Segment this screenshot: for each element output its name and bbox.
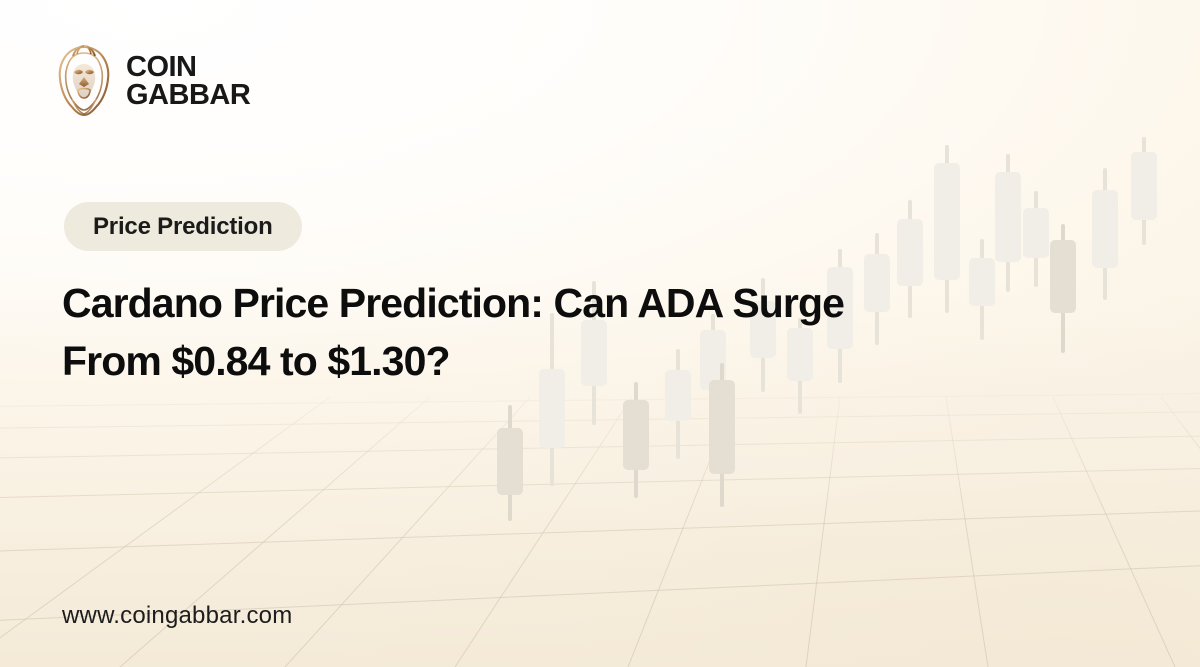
logo-word-gabbar: GABBAR [126,81,250,109]
candlestick-body [1023,208,1049,258]
banner-canvas: COIN GABBAR Price Prediction Cardano Pri… [0,0,1200,667]
lion-head-icon [56,44,112,118]
floor-grid-horizon-lines [0,393,1200,623]
candlestick [1092,168,1118,300]
candlestick [1023,191,1049,287]
candlestick-body [934,163,960,280]
candlestick-wick [634,382,638,498]
page-title-line-1: Cardano Price Prediction: Can ADA Surge [62,274,1072,332]
candlestick-body [623,400,649,470]
candlestick-wick [1006,154,1010,292]
page-title-line-2: From $0.84 to $1.30? [62,332,1072,390]
lion-head-icon-svg [56,44,112,118]
candlestick [995,154,1021,292]
candlestick [497,405,523,521]
candlestick-wick [508,405,512,521]
site-url[interactable]: www.coingabbar.com [62,602,292,630]
candlestick-body [995,172,1021,262]
category-badge[interactable]: Price Prediction [64,202,302,251]
candlestick-wick [1142,137,1146,245]
candlestick [623,382,649,498]
site-logo[interactable]: COIN GABBAR [56,44,250,118]
logo-word-coin: COIN [126,53,250,81]
candlestick [1131,137,1157,245]
candlestick-body [1131,152,1157,220]
candlestick-body [1092,190,1118,268]
candlestick-body [709,380,735,474]
page-title: Cardano Price Prediction: Can ADA Surge … [62,274,1072,390]
logo-wordmark: COIN GABBAR [126,53,250,110]
candlestick-wick [1034,191,1038,287]
candlestick-body [497,428,523,495]
candlestick-wick [1103,168,1107,300]
